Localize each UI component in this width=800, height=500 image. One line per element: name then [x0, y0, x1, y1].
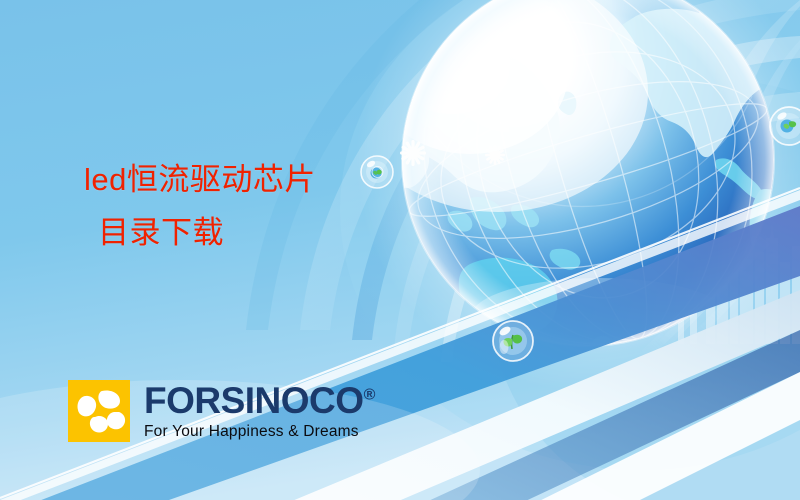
- brand-tagline: For Your Happiness & Dreams: [144, 423, 375, 441]
- headline-text: led恒流驱动芯片 目录下载: [84, 162, 316, 251]
- brand-logo[interactable]: FORSINOCO® For Your Happiness & Dreams: [68, 380, 375, 442]
- bubble-globe-icon-edge: [770, 107, 800, 145]
- registered-trademark-icon: ®: [364, 387, 376, 404]
- headline-line-1: led恒流驱动芯片: [84, 162, 316, 199]
- four-petal-pinwheel-icon: [68, 380, 130, 442]
- bubble-globe-icon: [361, 156, 393, 188]
- brand-wordmark: FORSINOCO® For Your Happiness & Dreams: [144, 380, 375, 441]
- brand-name: FORSINOCO®: [144, 382, 375, 419]
- brand-name-text: FORSINOCO: [144, 380, 364, 421]
- headline-line-2: 目录下载: [84, 215, 316, 252]
- bubble-leaf-icon: [493, 321, 533, 361]
- promo-banner: led恒流驱动芯片 目录下载 FORSINOCO® For Your Happi…: [0, 0, 800, 500]
